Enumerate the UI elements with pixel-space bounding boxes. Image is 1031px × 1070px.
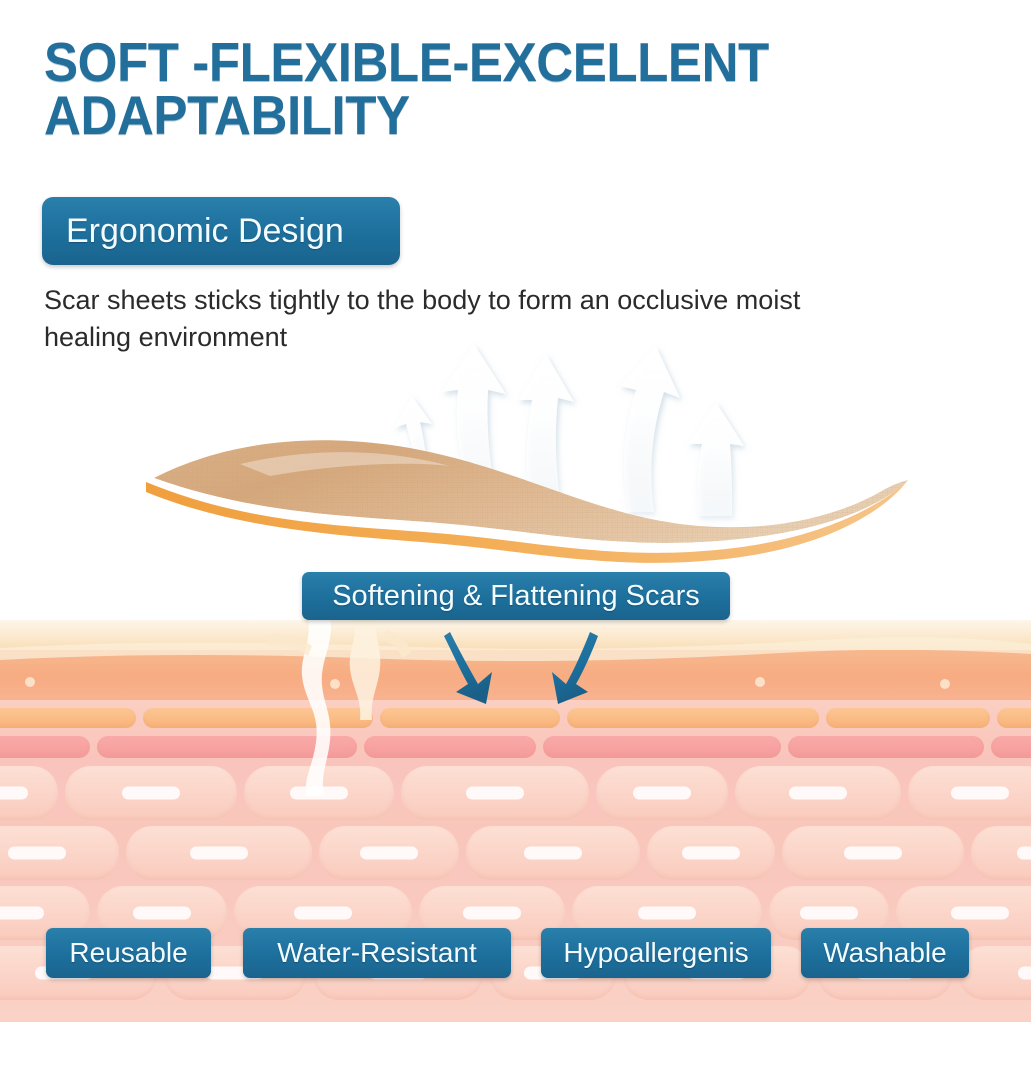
center-badge-softening-flattening-scars: Softening & Flattening Scars (302, 572, 730, 620)
scar-channel-illustration (250, 620, 440, 796)
feature-badge-hypoallergenis: Hypoallergenis (541, 928, 771, 978)
scar-sheet-illustration (120, 420, 910, 580)
feature-badge-water-resistant: Water-Resistant (243, 928, 511, 978)
feature-badge-washable: Washable (801, 928, 969, 978)
feature-badge-reusable: Reusable (46, 928, 211, 978)
infographic-canvas: SOFT -FLEXIBLE-EXCELLENT ADAPTABILITY Er… (0, 0, 1031, 1070)
section-badge-ergonomic-design: Ergonomic Design (42, 197, 400, 265)
page-title: SOFT -FLEXIBLE-EXCELLENT ADAPTABILITY (44, 36, 881, 142)
absorption-arrows-icon (430, 630, 630, 710)
